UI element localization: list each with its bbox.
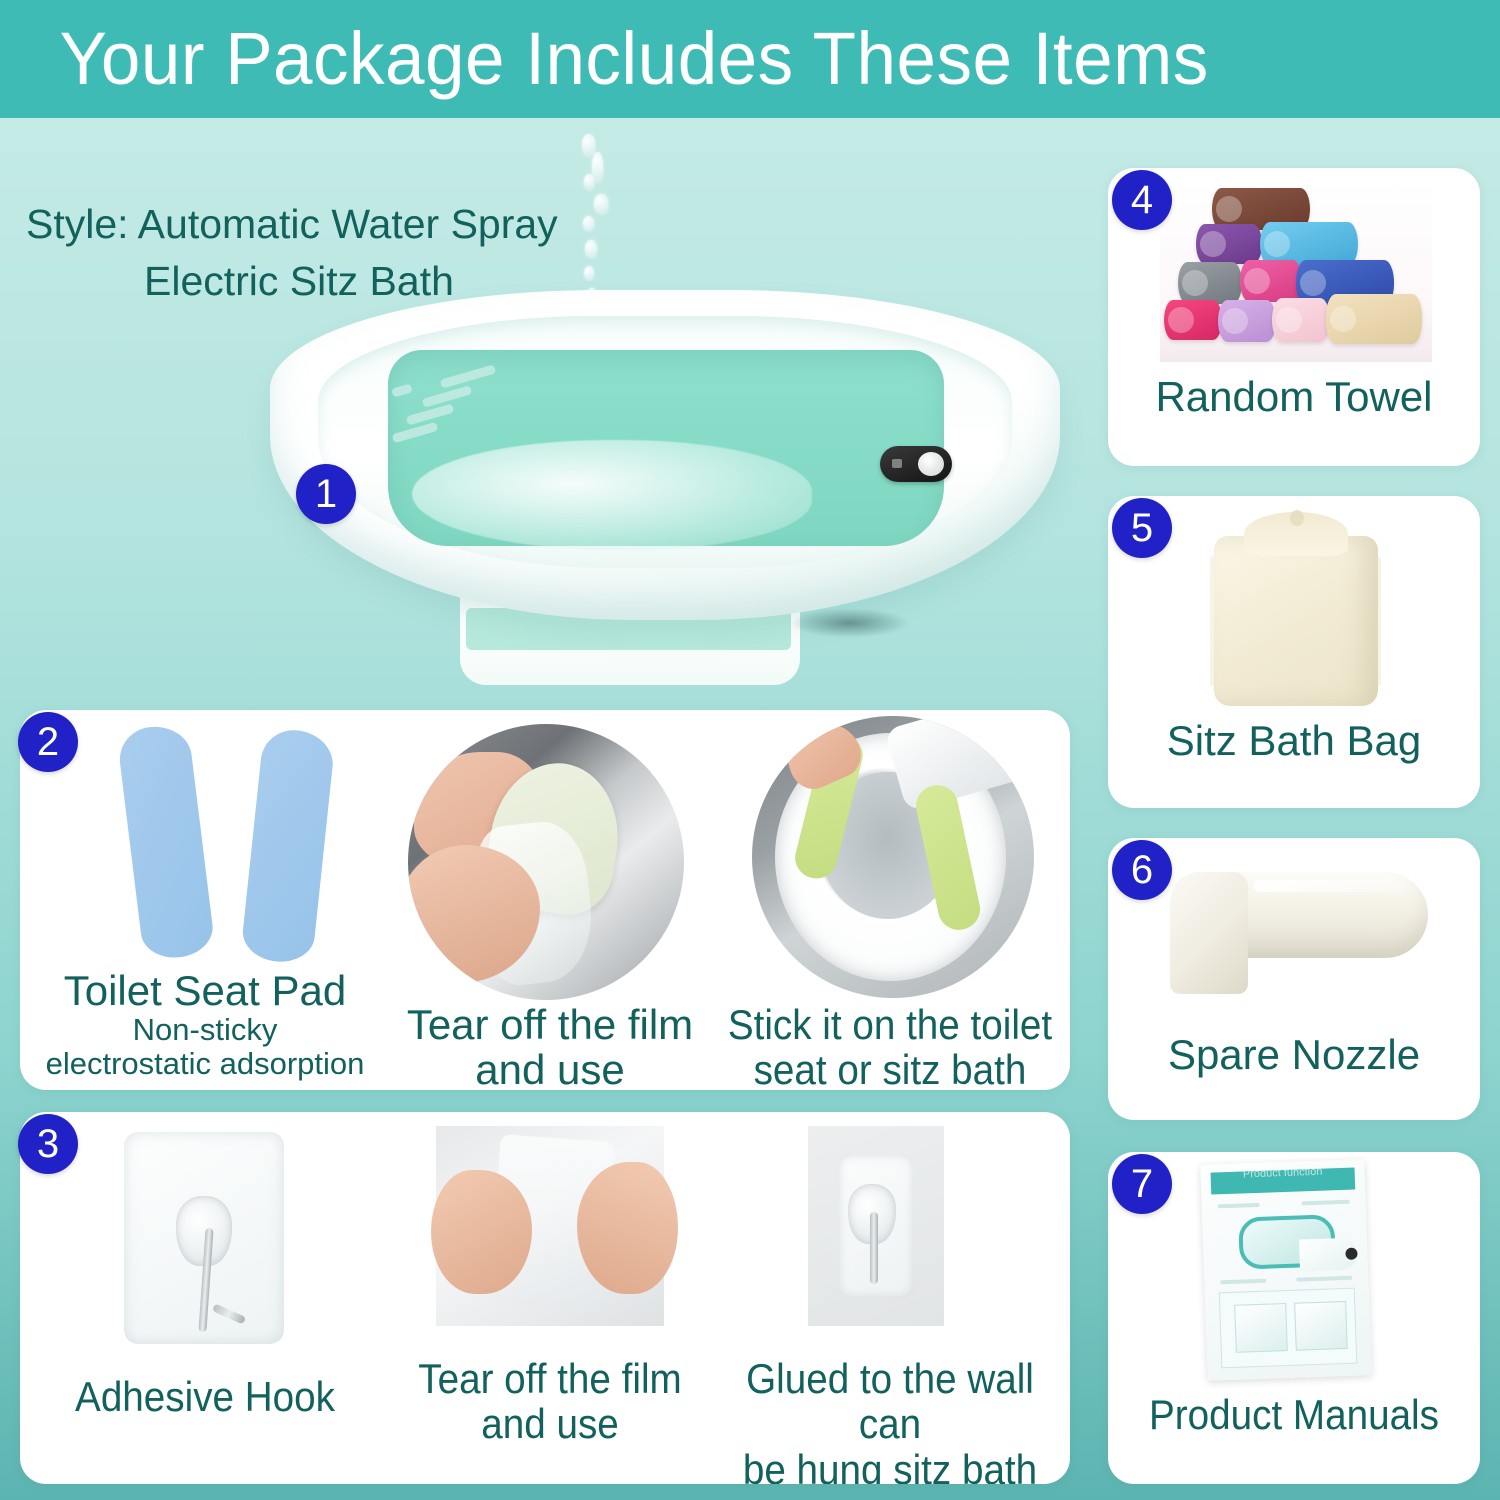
stick-caption-line2: seat or sitz bath pan xyxy=(724,1047,1055,1090)
item-badge-5: 5 xyxy=(1112,498,1172,558)
adhesive-hook-icon xyxy=(124,1132,284,1344)
hook-on-wall-photo-icon xyxy=(808,1126,944,1326)
item-badge-2: 2 xyxy=(18,712,78,772)
item-badge-1: 1 xyxy=(296,464,356,524)
stick-caption-line1: Stick it on the toilet xyxy=(724,1002,1055,1047)
pad-subtitle-line1: Non-sticky xyxy=(20,1013,390,1046)
panel-toilet-seat-pad: Toilet Seat Pad Non-sticky electrostatic… xyxy=(20,710,390,1090)
towel-label: Random Towel xyxy=(1108,374,1480,419)
hook-wall-caption-line1: Glued to the wall can xyxy=(724,1356,1055,1447)
sitz-bath-hero xyxy=(270,130,1060,710)
control-indicator-icon xyxy=(892,459,902,468)
drawstring-bag-icon xyxy=(1204,510,1388,706)
manual-booklet-icon: Product function xyxy=(1200,1159,1371,1381)
panel-tear-off-film: Tear off the film and use xyxy=(390,710,710,1090)
peel-film-hook-photo-icon xyxy=(436,1126,664,1326)
item-badge-7: 7 xyxy=(1112,1154,1172,1214)
panel-hook-tear-film: Tear off the film and use xyxy=(390,1112,710,1484)
sitz-bath-control-panel[interactable] xyxy=(880,446,952,482)
item-badge-6: 6 xyxy=(1112,840,1172,900)
item-badge-3: 3 xyxy=(18,1114,78,1174)
toilet-seat-applied-photo-icon xyxy=(752,716,1034,998)
panel-stick-on-toilet: Stick it on the toilet seat or sitz bath… xyxy=(710,710,1070,1090)
bag-label: Sitz Bath Bag xyxy=(1108,718,1480,763)
hook-tear-caption-line1: Tear off the film xyxy=(403,1356,697,1401)
tear-film-caption-line1: Tear off the film xyxy=(390,1002,710,1047)
panel-adhesive-hook: Adhesive Hook xyxy=(20,1112,390,1484)
peel-film-photo-icon xyxy=(408,724,684,1000)
pad-title: Toilet Seat Pad xyxy=(20,968,390,1013)
tear-film-caption-line2: and use xyxy=(390,1047,710,1090)
item-card-adhesive-hook: Adhesive Hook Tear off the film and use … xyxy=(20,1112,1070,1484)
manuals-label: Product Manuals xyxy=(1123,1392,1465,1437)
panel-hook-on-wall: Glued to the wall can be hung sitz bath … xyxy=(710,1112,1070,1484)
item-badge-4: 4 xyxy=(1112,170,1172,230)
basin-vent-slots-icon xyxy=(378,372,518,446)
hook-tear-caption-line2: and use xyxy=(403,1401,697,1446)
hook-wall-caption-line2: be hung sitz bath pan xyxy=(724,1447,1055,1484)
nozzle-label: Spare Nozzle xyxy=(1108,1032,1480,1077)
page-title: Your Package Includes These Items xyxy=(0,20,1209,98)
item-card-toilet-seat-pad: Toilet Seat Pad Non-sticky electrostatic… xyxy=(20,710,1070,1090)
sitz-bath-basin-icon xyxy=(270,290,1060,710)
hook-title: Adhesive Hook xyxy=(35,1374,375,1419)
power-button-icon[interactable] xyxy=(918,452,944,476)
rolled-towels-stack-icon xyxy=(1160,180,1432,362)
pad-subtitle-line2: electrostatic adsorption xyxy=(20,1047,390,1080)
l-shaped-nozzle-icon xyxy=(1164,866,1432,1006)
toilet-seat-pads-icon xyxy=(120,720,350,970)
page-header: Your Package Includes These Items xyxy=(0,0,1500,118)
